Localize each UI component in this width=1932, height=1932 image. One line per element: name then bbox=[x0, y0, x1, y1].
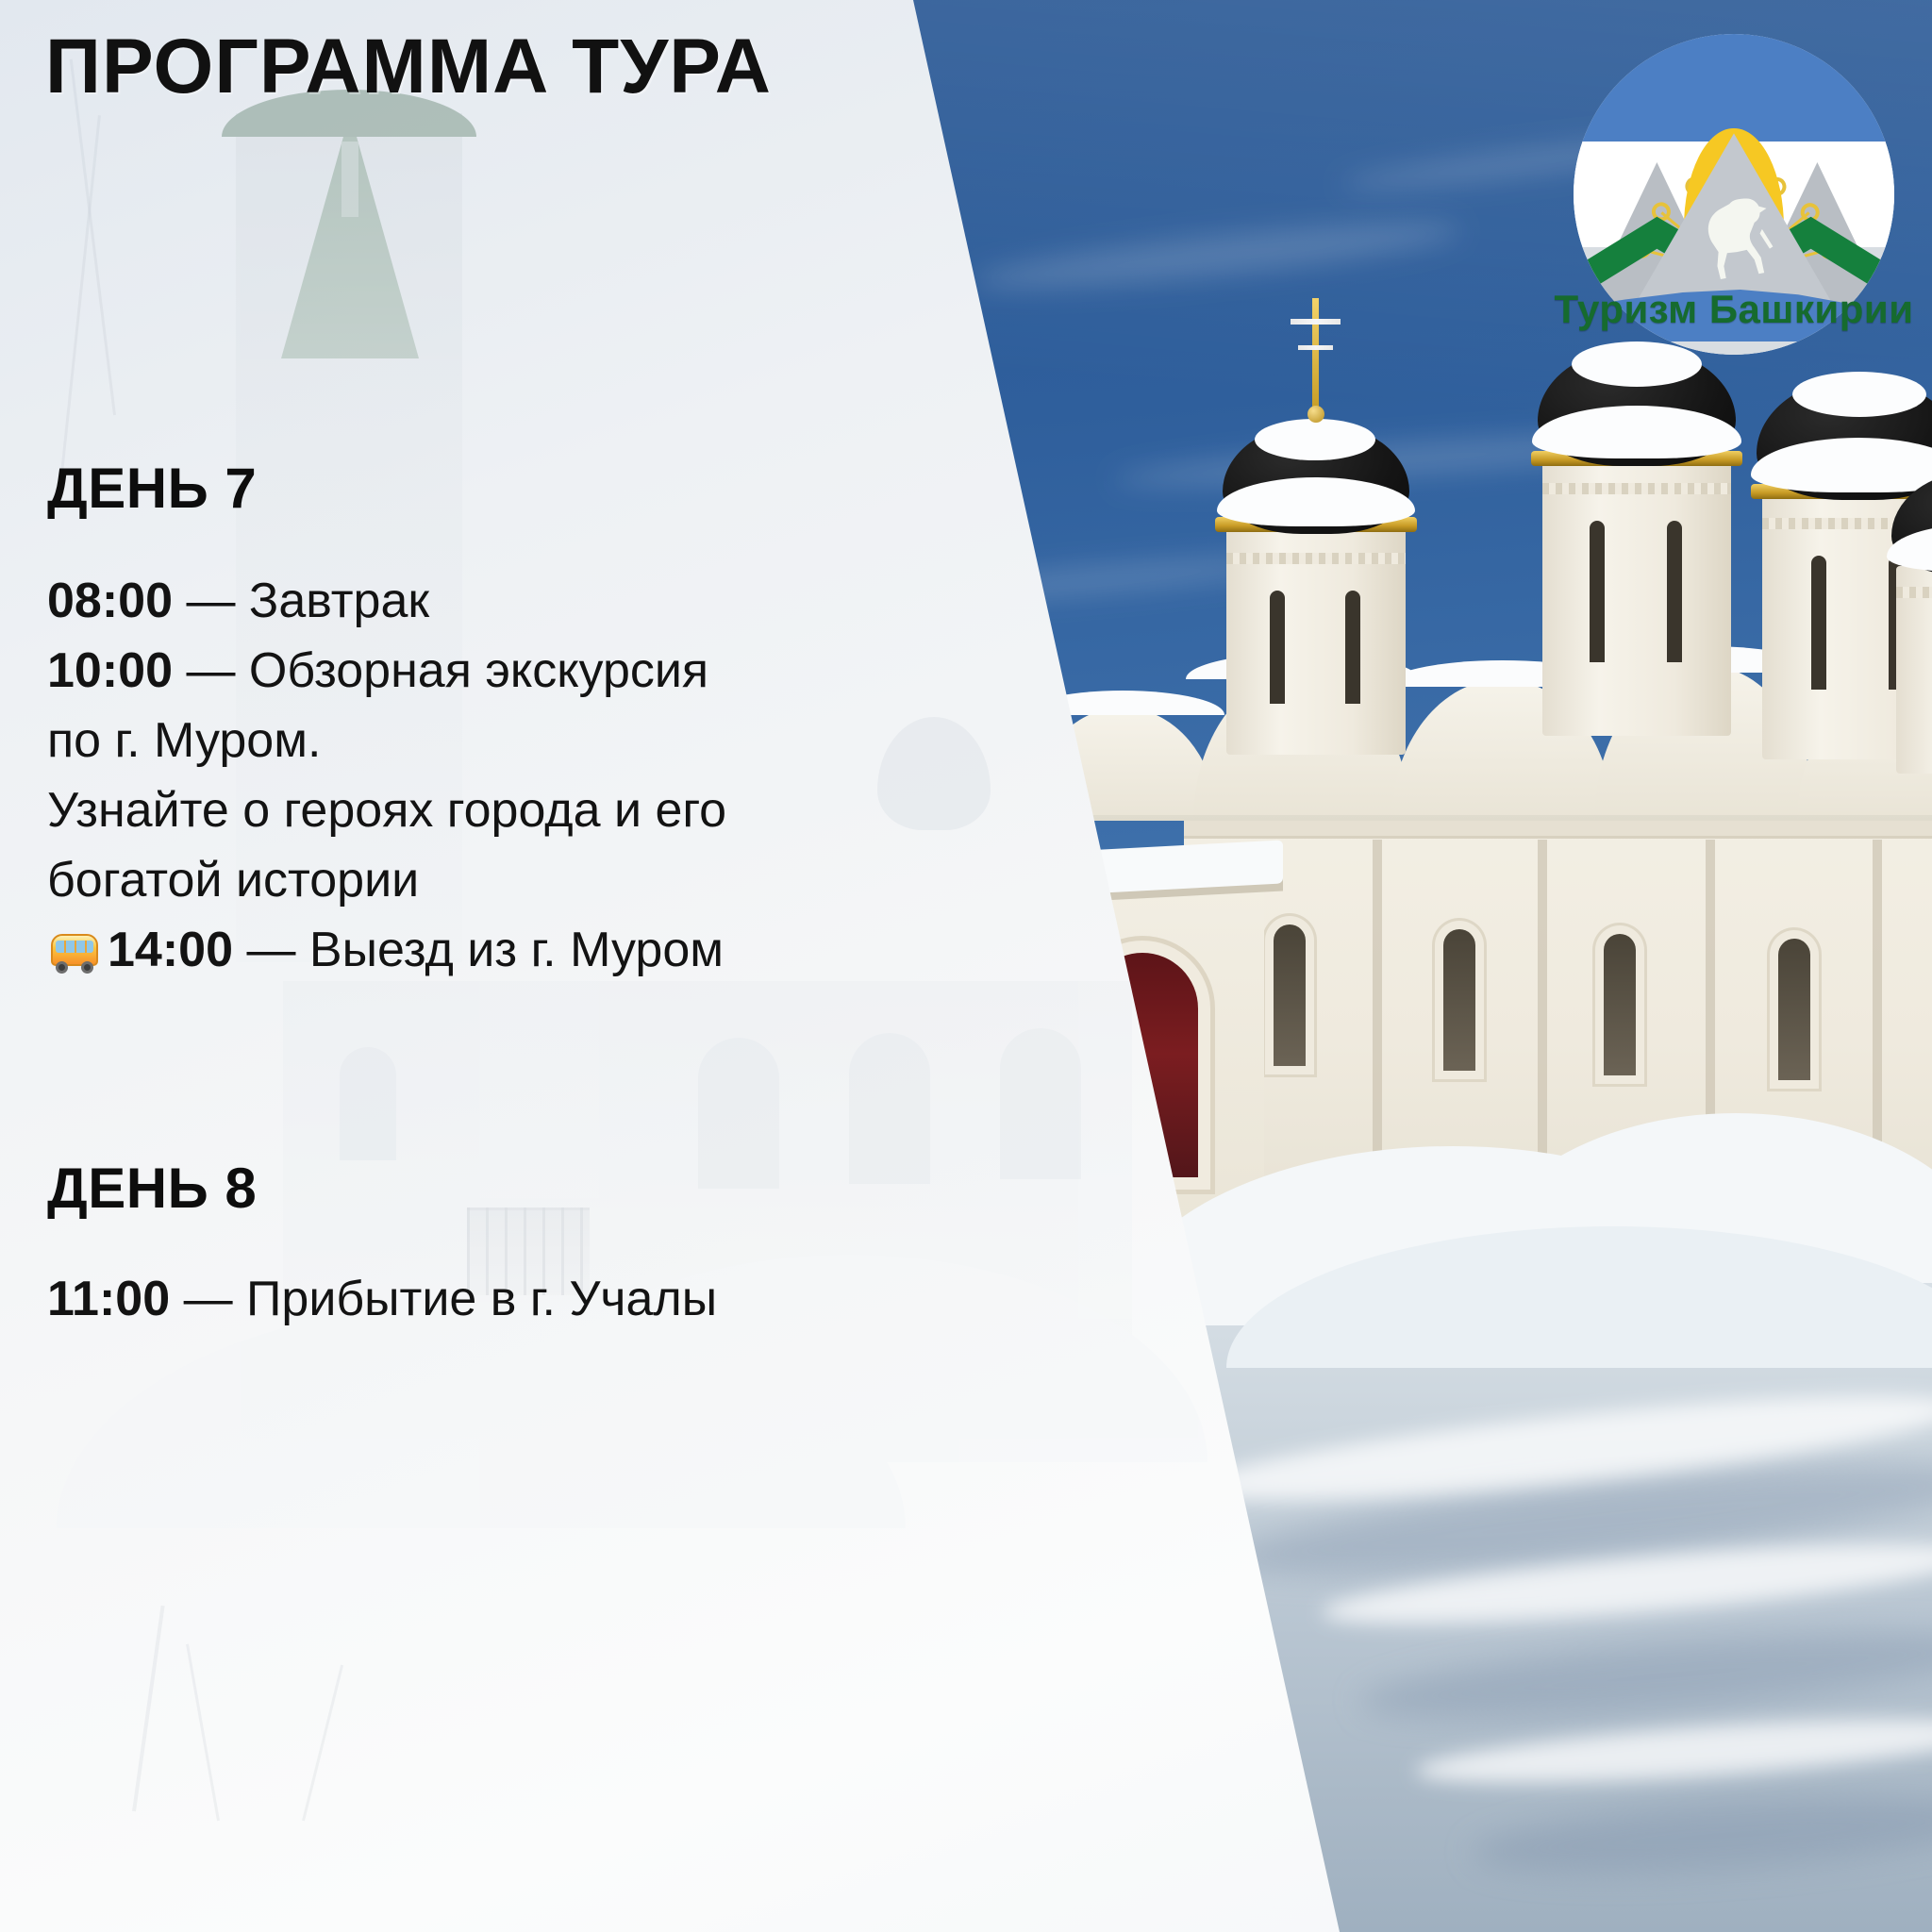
schedule-text: богатой истории bbox=[47, 853, 419, 908]
drum-window bbox=[1667, 521, 1682, 662]
drum-window bbox=[1270, 591, 1285, 704]
church-window bbox=[1443, 929, 1475, 1071]
schedule-text: Завтрак bbox=[249, 574, 429, 628]
day-heading-8: ДЕНЬ 8 bbox=[47, 1160, 257, 1217]
schedule-line: богатой истории bbox=[47, 845, 726, 915]
bus-icon bbox=[47, 932, 102, 974]
drum-window bbox=[1811, 556, 1826, 690]
schedule-text: Прибытие в г. Учалы bbox=[246, 1272, 717, 1326]
church-drum bbox=[1542, 462, 1731, 736]
wall-pilaster bbox=[1538, 840, 1547, 1179]
drum-ornament-band bbox=[1226, 553, 1406, 564]
cross-orb bbox=[1307, 406, 1324, 423]
schedule-line: 08:00 — Завтрак bbox=[47, 566, 726, 636]
drum-window bbox=[1590, 521, 1605, 662]
bus-wheel bbox=[81, 961, 93, 974]
church-window bbox=[1778, 939, 1810, 1080]
schedule-line: по г. Муром. bbox=[47, 706, 726, 775]
orthodox-cross-icon bbox=[1312, 298, 1319, 417]
schedule-line: 14:00 — Выезд из г. Муром bbox=[47, 915, 726, 985]
tour-program-poster: ПРОГРАММА ТУРА ДЕНЬ 7 08:00 — Завтрак 10… bbox=[0, 0, 1932, 1932]
schedule-text: Выезд из г. Муром bbox=[309, 923, 724, 977]
church-drum bbox=[1896, 566, 1932, 774]
day-8-schedule: 11:00 — Прибытие в г. Учалы bbox=[47, 1264, 717, 1334]
day-heading-7: ДЕНЬ 7 bbox=[47, 460, 257, 517]
wall-pilaster bbox=[1873, 840, 1882, 1179]
schedule-dash: — bbox=[173, 574, 249, 628]
horse-icon bbox=[1679, 181, 1789, 291]
schedule-time: 10:00 bbox=[47, 643, 173, 698]
church-drum bbox=[1226, 528, 1406, 755]
drum-ornament-band bbox=[1542, 483, 1731, 494]
church-window bbox=[1604, 934, 1636, 1075]
brand-name: Туризм Башкирии bbox=[1536, 287, 1932, 332]
brand-logo[interactable]: Туризм Башкирии bbox=[1574, 34, 1894, 355]
wall-pilaster bbox=[1373, 840, 1382, 1179]
schedule-time: 14:00 bbox=[108, 923, 233, 977]
schedule-text: по г. Муром. bbox=[47, 713, 321, 768]
drum-ornament-band bbox=[1896, 587, 1932, 598]
bus-wheel bbox=[56, 961, 68, 974]
church-window bbox=[1274, 924, 1306, 1066]
schedule-text: Обзорная экскурсия bbox=[249, 643, 708, 698]
schedule-line: 11:00 — Прибытие в г. Учалы bbox=[47, 1264, 717, 1334]
schedule-line: Узнайте о героях города и его bbox=[47, 775, 726, 845]
drum-window bbox=[1345, 591, 1360, 704]
schedule-dash: — bbox=[170, 1272, 246, 1326]
schedule-time: 08:00 bbox=[47, 574, 173, 628]
schedule-dash: — bbox=[233, 923, 309, 977]
day-7-schedule: 08:00 — Завтрак 10:00 — Обзорная экскурс… bbox=[47, 566, 726, 985]
schedule-dash: — bbox=[173, 643, 249, 698]
schedule-time: 11:00 bbox=[47, 1272, 170, 1326]
page-title: ПРОГРАММА ТУРА bbox=[45, 28, 772, 106]
schedule-text: Узнайте о героях города и его bbox=[47, 783, 726, 838]
schedule-line: 10:00 — Обзорная экскурсия bbox=[47, 636, 726, 706]
bus-windows bbox=[56, 941, 93, 953]
dome-snow-cap bbox=[1792, 372, 1926, 417]
dome-snow-cap bbox=[1255, 419, 1375, 460]
emblem-sky-band bbox=[1574, 34, 1894, 142]
